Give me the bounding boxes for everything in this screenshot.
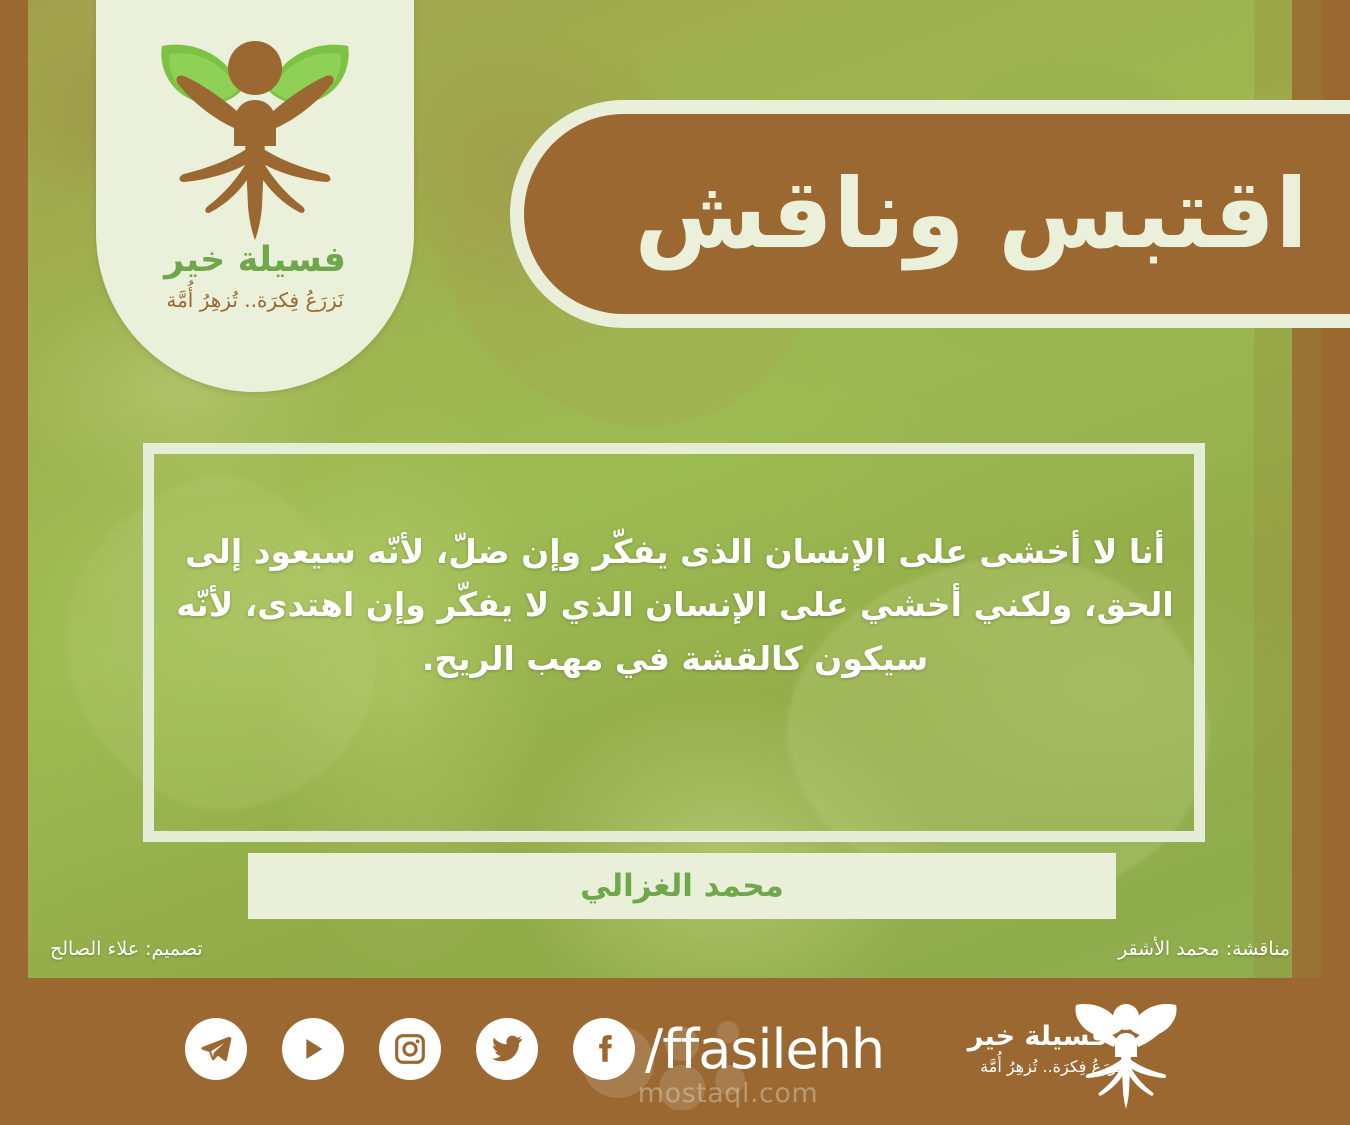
mostaql-watermark-text: mostaql.com [578,1078,878,1109]
page-title: اقتبس وناقش [634,166,1308,262]
twitter-button[interactable] [476,1018,538,1080]
facebook-button[interactable] [573,1018,635,1080]
designer-credit: تصميم: علاء الصالح [50,938,203,960]
telegram-button[interactable] [185,1018,247,1080]
instagram-icon [393,1032,427,1066]
brand-tagline: نَزرَعُ فِكرَة.. تُزهِرُ أُمَّة [96,288,414,312]
quote-text: أنا لا أخشى على الإنسان الذى يفكّر وإن ض… [175,525,1175,685]
twitter-icon [489,1031,525,1067]
social-handle[interactable]: /ffasilehh [645,1018,884,1080]
telegram-icon [199,1032,233,1066]
footer-brand-logo: فسيلة خير نَزرَعُ فِكرَة.. تُزهِرُ أُمَّ… [940,993,1190,1111]
brand-name: فسيلة خير [96,240,414,280]
author-banner: محمد الغزالي [248,853,1116,919]
poster-canvas: فسيلة خير نَزرَعُ فِكرَة.. تُزهِرُ أُمَّ… [0,0,1350,1125]
quote-author: محمد الغزالي [580,868,784,904]
instagram-button[interactable] [379,1018,441,1080]
brand-logo-badge: فسيلة خير نَزرَعُ فِكرَة.. تُزهِرُ أُمَّ… [96,0,414,392]
discussion-credit: مناقشة: محمد الأشقر [1118,938,1290,960]
title-banner-inner: اقتبس وناقش [524,114,1350,314]
play-icon [297,1033,329,1065]
youtube-button[interactable] [282,1018,344,1080]
title-banner: اقتبس وناقش [510,100,1350,328]
social-links[interactable] [185,1018,635,1080]
sprout-person-icon [150,28,360,243]
sprout-person-icon [1070,993,1182,1111]
facebook-icon [587,1032,621,1066]
